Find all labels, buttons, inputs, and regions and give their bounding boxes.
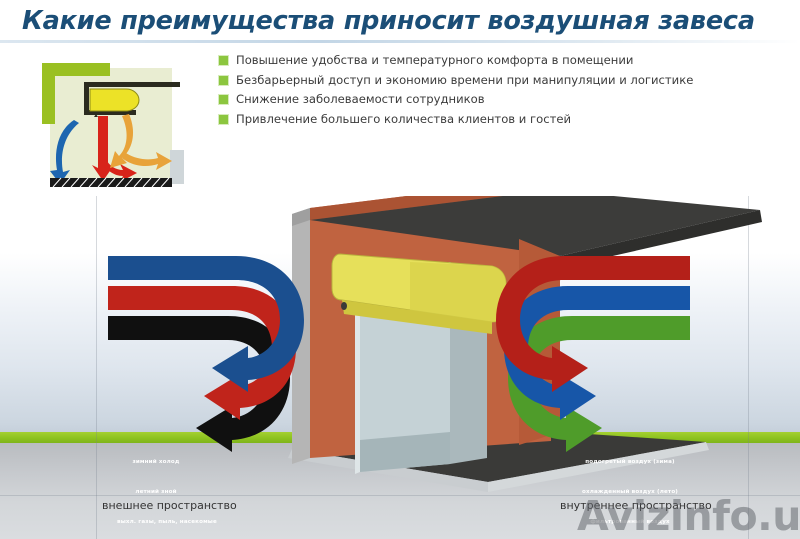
- list-item: Снижение заболеваемости сотрудников: [219, 91, 739, 109]
- benefit-text: Повышение удобства и температурного комф…: [236, 52, 633, 68]
- bullet-square-icon: [219, 115, 228, 124]
- bullet-square-icon: [219, 76, 228, 85]
- list-item: Привлечение большего количества клиентов…: [219, 111, 739, 129]
- benefits-list: Повышение удобства и температурного комф…: [219, 52, 739, 130]
- thumb-air-curtain-unit: [90, 89, 139, 111]
- benefit-text: Безбарьерный доступ и экономию времени п…: [236, 72, 693, 88]
- thumb-side-block: [170, 150, 184, 184]
- air-curtain-nozzle-icon: [341, 302, 347, 310]
- main-scene: зимний холод летний зной выхл. газы, пыл…: [0, 196, 800, 539]
- bullet-square-icon: [219, 56, 228, 65]
- building-and-airflow-diagram: [0, 196, 800, 539]
- list-item: Безбарьерный доступ и экономию времени п…: [219, 72, 739, 90]
- benefit-text: Снижение заболеваемости сотрудников: [236, 91, 485, 107]
- poster-canvas: Какие преимущества приносит воздушная за…: [0, 0, 800, 539]
- title-bar: Какие преимущества приносит воздушная за…: [0, 0, 800, 44]
- benefit-text: Привлечение большего количества клиентов…: [236, 111, 571, 127]
- site-watermark: Avizinfo.uz: [577, 492, 800, 539]
- thumb-ceiling-bar: [84, 82, 180, 87]
- list-item: Повышение удобства и температурного комф…: [219, 52, 739, 70]
- title-divider: [0, 40, 800, 43]
- air-curtain-thumbnail-illustration: [22, 58, 202, 193]
- caption-outer-space: внешнее пространство: [96, 499, 237, 512]
- bullet-square-icon: [219, 95, 228, 104]
- page-title: Какие преимущества приносит воздушная за…: [22, 6, 755, 36]
